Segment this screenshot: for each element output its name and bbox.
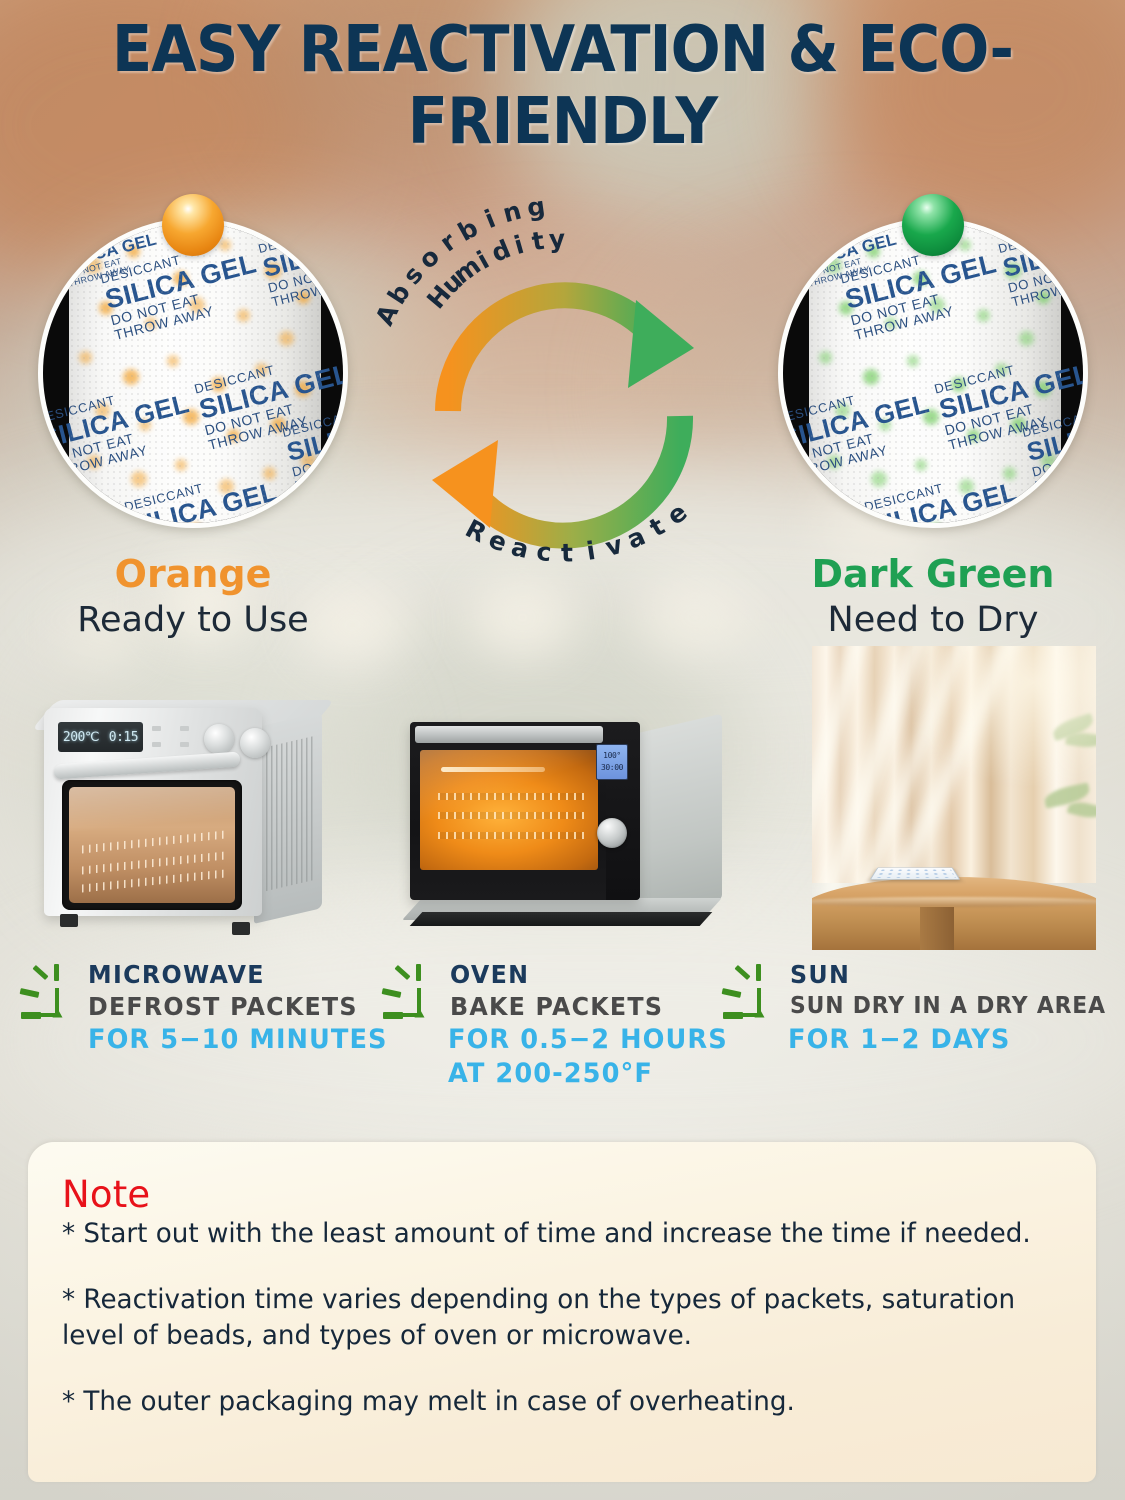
step-sun-title: SUN — [790, 960, 1106, 990]
bead — [915, 459, 927, 471]
bead — [123, 369, 139, 385]
packet-text-block: DESICCANTSILICA GELDO NOT EATTHROW AWAY — [38, 376, 199, 481]
bead — [951, 377, 966, 392]
bead — [1037, 291, 1050, 304]
bead — [263, 467, 276, 480]
bead — [87, 455, 101, 469]
bead — [219, 479, 234, 494]
oven-glass-window — [420, 750, 598, 870]
appliance-door — [62, 780, 242, 910]
bead — [79, 351, 92, 364]
appliance-knob — [204, 724, 234, 754]
packet-printed-text: DESICCANTSILICA GELDO NOT EATTHROW AWAYD… — [69, 218, 321, 528]
sunlit-window-table-photo — [812, 646, 1096, 950]
bead — [929, 523, 942, 528]
appliance-glass-window — [69, 787, 235, 903]
bead — [301, 453, 316, 468]
step-sun-action: SUN DRY IN A DRY AREA — [790, 990, 1106, 1023]
sample-dark-green: DESICCANTSILICA GELDO NOT EATTHROW AWAYD… — [778, 218, 1088, 642]
bead — [923, 409, 939, 425]
bead — [1035, 381, 1051, 397]
appliance-touch-pads — [152, 726, 198, 752]
orange-beads — [69, 218, 321, 528]
display-timer: 0:15 — [109, 730, 138, 745]
bead — [189, 523, 202, 528]
bead — [1005, 263, 1021, 279]
bead — [219, 239, 231, 251]
bead — [109, 511, 123, 525]
display-timer: 30:00 — [601, 762, 623, 774]
bead — [819, 351, 832, 364]
bead — [131, 471, 147, 487]
bead — [863, 369, 879, 385]
appliance-display: 200℃ 0:15 — [58, 722, 143, 752]
bead — [867, 245, 880, 258]
bead — [913, 271, 928, 286]
bead — [255, 363, 268, 376]
curved-arrow-counterclockwise-icon — [432, 416, 680, 536]
sun-scene — [812, 646, 1096, 950]
cycle-label-char: c — [535, 537, 553, 567]
step-microwave-action: DEFROST PACKETS — [88, 990, 388, 1023]
bead — [1011, 417, 1026, 432]
sample-dark-green-subtitle: Need to Dry — [778, 598, 1088, 642]
bead — [871, 471, 887, 487]
bead — [173, 271, 188, 286]
bead — [1007, 509, 1022, 524]
step-sun: SUN SUN DRY IN A DRY AREA FOR 1−2 DAYS — [722, 960, 1122, 1057]
bead — [995, 363, 1008, 376]
countertop-air-fryer-oven-photo: 200℃ 0:15 — [22, 694, 342, 952]
bead — [271, 417, 286, 432]
oven-top-trim — [415, 726, 603, 743]
reactivation-cycle-diagram: AbsorbingHumidity Reactivate — [398, 196, 728, 566]
bead — [211, 377, 226, 392]
oven-rack — [82, 831, 225, 854]
cycle-label-char: g — [525, 191, 547, 222]
sample-orange-photo: DESICCANTSILICA GELDO NOT EATTHROW AWAYD… — [38, 218, 348, 528]
step-sun-time: FOR 1−2 DAYS — [788, 1023, 1106, 1057]
note-line: * Reactivation time varies depending on … — [62, 1282, 1032, 1354]
bead — [227, 429, 240, 442]
oven-lcd-display: 100° 30:00 — [596, 744, 628, 780]
packet-printed-text: DESICCANTSILICA GELDO NOT EATTHROW AWAYD… — [809, 218, 1061, 528]
note-panel: Note * Start out with the least amount o… — [28, 1142, 1096, 1482]
bead — [959, 479, 974, 494]
packet-text-block: DESICCANTSILICA GELDO NOT EATTHROW AWAY — [997, 218, 1088, 309]
bead — [189, 297, 205, 313]
bead — [167, 355, 179, 367]
bead — [237, 309, 250, 322]
bead — [1019, 331, 1034, 346]
display-temperature: 100° — [603, 750, 621, 762]
bead — [977, 309, 990, 322]
bead — [827, 455, 841, 469]
step-microwave-title: MICROWAVE — [88, 960, 388, 990]
step-microwave: MICROWAVE DEFROST PACKETS FOR 5−10 MINUT… — [20, 960, 403, 1057]
oven-rack — [82, 870, 225, 893]
cycle-label-char: y — [549, 224, 566, 254]
appliance-body: 200℃ 0:15 — [44, 708, 262, 916]
packet-text-block: DESICCANTSILICA GELDO NOT EATTHROW AWAY — [59, 222, 163, 289]
heat-rays-corner-icon — [722, 964, 786, 1036]
heat-rays-corner-icon — [20, 964, 84, 1036]
heat-rays-corner-icon — [382, 964, 446, 1036]
bead — [825, 257, 842, 274]
note-line: * Start out with the least amount of tim… — [62, 1216, 1032, 1252]
step-oven: OVEN BAKE PACKETS FOR 0.5−2 HOURS AT 200… — [382, 960, 742, 1091]
silica-gel-packet: DESICCANTSILICA GELDO NOT EATTHROW AWAYD… — [69, 218, 321, 528]
packet-text-block: DESICCANTSILICA GELDO NOT EATTHROW AWAY — [123, 464, 287, 528]
green-bead-pin-icon — [902, 194, 964, 256]
bead — [99, 301, 113, 315]
note-line: * The outer packaging may melt in case o… — [62, 1384, 1032, 1420]
bead — [295, 381, 311, 397]
bead — [183, 409, 199, 425]
sample-orange: DESICCANTSILICA GELDO NOT EATTHROW AWAYD… — [38, 218, 348, 642]
orange-bead-pin-icon — [162, 194, 224, 256]
bead — [1003, 467, 1016, 480]
bead — [839, 301, 853, 315]
bead — [849, 511, 863, 525]
bead — [265, 263, 281, 279]
step-microwave-time: FOR 5−10 MINUTES — [88, 1023, 388, 1057]
oven-side-panel — [632, 714, 722, 921]
sample-dark-green-name: Dark Green — [778, 552, 1088, 596]
sample-orange-subtitle: Ready to Use — [38, 598, 348, 642]
oven-plinth — [410, 912, 713, 926]
packet-text-block: DESICCANTSILICA GELDO NOT EATTHROW AWAY — [863, 464, 1027, 528]
step-oven-title: OVEN — [450, 960, 728, 990]
bead — [127, 245, 140, 258]
page-title: EASY REACTIVATION & ECO-FRIENDLY — [45, 14, 1080, 158]
bead — [297, 291, 310, 304]
bead — [1041, 453, 1056, 468]
oven-knob — [597, 818, 627, 848]
bead — [879, 419, 891, 431]
cycle-label-char: t — [561, 538, 574, 567]
curved-arrow-clockwise-icon — [448, 295, 694, 411]
green-beads — [809, 218, 1061, 528]
appliance-knob — [240, 728, 270, 758]
silica-gel-packet: DESICCANTSILICA GELDO NOT EATTHROW AWAYD… — [809, 218, 1061, 528]
packet-text-block: DESICCANTSILICA GELDO NOT EATTHROW AWAY — [799, 222, 903, 289]
bead — [967, 429, 980, 442]
bead — [145, 317, 157, 329]
sample-orange-name: Orange — [38, 552, 348, 596]
bead — [85, 257, 102, 274]
display-temperature: 200℃ — [63, 730, 99, 745]
step-oven-action: BAKE PACKETS — [450, 990, 728, 1023]
sunlight-glow — [812, 646, 1096, 950]
bead — [95, 403, 110, 418]
sample-dark-green-photo: DESICCANTSILICA GELDO NOT EATTHROW AWAYD… — [778, 218, 1088, 528]
packet-text-block: DESICCANTSILICA GELDO NOT EATTHROW AWAY — [778, 376, 939, 481]
bead — [279, 331, 294, 346]
bead — [929, 297, 945, 313]
bead — [907, 355, 919, 367]
bead — [175, 459, 187, 471]
appliance-door-handle — [54, 751, 240, 779]
note-title: Note — [62, 1174, 1062, 1216]
bead — [835, 403, 850, 418]
packet-text-block: DESICCANTSILICA GELDO NOT EATTHROW AWAY — [257, 218, 348, 309]
bead — [959, 239, 971, 251]
step-oven-time: FOR 0.5−2 HOURS — [448, 1023, 728, 1057]
bead — [885, 317, 897, 329]
step-oven-temperature: AT 200-250°F — [448, 1057, 728, 1091]
bead — [139, 419, 151, 431]
bead — [267, 509, 282, 524]
built-in-oven-photo: 100° 30:00 — [394, 700, 724, 950]
